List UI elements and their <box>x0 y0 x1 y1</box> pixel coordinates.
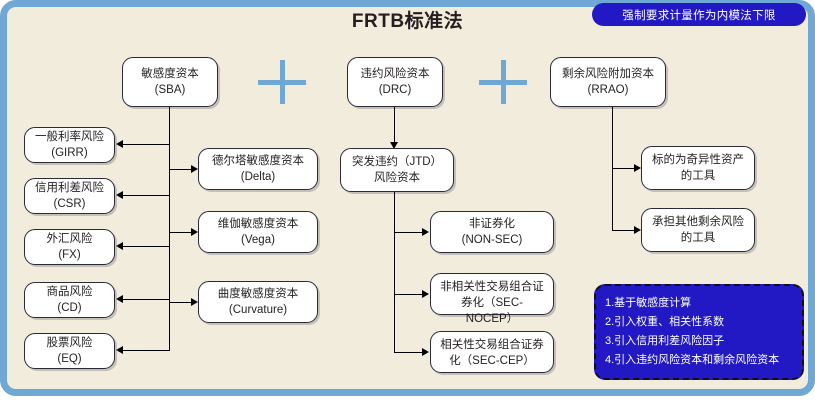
node-non-sec[interactable]: 非证券化 (NON-SEC) <box>430 211 554 253</box>
node-curvature[interactable]: 曲度敏感度资本 (Curvature) <box>198 281 318 323</box>
connector-sba-csr <box>123 195 170 196</box>
node-jtd-line1: 突发违约（JTD） <box>352 154 442 170</box>
arrow-sba-fx <box>116 242 123 250</box>
connector-rrao-other <box>613 230 635 231</box>
node-sec-cep-line1: 相关性交易组合证券 <box>438 337 546 353</box>
node-rrao-line2: (RRAO) <box>588 82 629 98</box>
node-eq-line1: 股票风险 <box>47 335 93 351</box>
connector-sba-cd <box>123 299 170 300</box>
node-vega-line1: 维伽敏感度资本 <box>218 216 299 232</box>
node-drc-line1: 违约风险资本 <box>361 66 430 82</box>
arrow-jtd-secnocep <box>422 290 429 298</box>
node-other-residual[interactable]: 承担其他剩余风险 的工具 <box>641 208 755 252</box>
node-fx[interactable]: 外汇风险 (FX) <box>24 229 115 265</box>
node-cd-line2: (CD) <box>57 300 81 316</box>
node-sba-line1: 敏感度资本 <box>141 66 199 82</box>
connector-sba-vega <box>170 232 192 233</box>
node-jtd-line2: 风险资本 <box>374 170 420 186</box>
node-delta[interactable]: 德尔塔敏感度资本 (Delta) <box>198 148 318 190</box>
node-jtd[interactable]: 突发违约（JTD） 风险资本 <box>340 148 454 192</box>
node-delta-line1: 德尔塔敏感度资本 <box>212 153 304 169</box>
note-line-2: 2.引入权重、相关性系数 <box>605 313 802 332</box>
node-cd[interactable]: 商品风险 (CD) <box>24 282 115 318</box>
node-rrao-line1: 剩余风险附加资本 <box>562 66 654 82</box>
node-sec-cep[interactable]: 相关性交易组合证券 化（SEC-CEP） <box>430 331 554 373</box>
arrow-sba-csr <box>116 191 123 199</box>
node-other-residual-line1: 承担其他剩余风险 <box>652 214 744 230</box>
plus-operator-1-icon <box>258 60 306 104</box>
arrow-sba-cd <box>116 295 123 303</box>
connector-sba-delta <box>170 169 192 170</box>
connector-jtd-nonsec <box>395 232 423 233</box>
connector-sba-eq <box>123 350 170 351</box>
connector-sba-girr <box>123 144 170 145</box>
connector-rrao-exotic <box>613 168 635 169</box>
arrow-sba-vega <box>191 228 198 236</box>
connector-jtd-secnocep <box>395 294 423 295</box>
node-cd-line1: 商品风险 <box>47 284 93 300</box>
node-exotic-underlying[interactable]: 标的为奇异性资产 的工具 <box>641 146 755 190</box>
node-exotic-underlying-line2: 的工具 <box>681 168 716 184</box>
connector-sba-curvature <box>170 302 192 303</box>
arrow-sba-curvature <box>191 298 198 306</box>
node-csr[interactable]: 信用利差风险 (CSR) <box>24 178 115 214</box>
node-rrao[interactable]: 剩余风险附加资本 (RRAO) <box>550 57 666 107</box>
connector-drc-jtd <box>394 107 395 143</box>
node-other-residual-line2: 的工具 <box>681 230 716 246</box>
note-line-1: 1.基于敏感度计算 <box>605 294 802 313</box>
node-delta-line2: (Delta) <box>241 169 276 185</box>
status-badge: 强制要求计量作为内模法下限 <box>592 3 806 26</box>
note-line-4: 4.引入违约风险资本和剩余风险资本 <box>605 351 802 370</box>
node-drc[interactable]: 违约风险资本 (DRC) <box>347 57 443 107</box>
node-non-sec-line2: (NON-SEC) <box>462 232 523 248</box>
node-sec-nocep-line1: 非相关性交易组合证 <box>438 279 546 295</box>
node-girr-line2: (GIRR) <box>51 145 87 161</box>
node-drc-line2: (DRC) <box>379 82 412 98</box>
connector-sba-fx <box>123 246 170 247</box>
node-sba-line2: (SBA) <box>155 82 186 98</box>
arrow-rrao-exotic <box>634 164 641 172</box>
node-curvature-line2: (Curvature) <box>229 302 287 318</box>
node-girr-line1: 一般利率风险 <box>35 129 104 145</box>
node-csr-line1: 信用利差风险 <box>35 180 104 196</box>
node-girr[interactable]: 一般利率风险 (GIRR) <box>24 127 115 163</box>
node-sec-nocep[interactable]: 非相关性交易组合证 券化（SEC-NOCEP） <box>430 273 554 315</box>
summary-note: 1.基于敏感度计算 2.引入权重、相关性系数 3.引入信用利差风险因子 4.引入… <box>594 284 804 380</box>
arrow-sba-delta <box>191 165 198 173</box>
node-vega[interactable]: 维伽敏感度资本 (Vega) <box>198 211 318 253</box>
node-curvature-line1: 曲度敏感度资本 <box>218 286 299 302</box>
arrow-sba-girr <box>116 140 123 148</box>
node-sec-nocep-line2: 券化（SEC-NOCEP） <box>438 295 546 327</box>
arrow-jtd-seccep <box>422 348 429 356</box>
connector-jtd-seccep <box>395 352 423 353</box>
note-line-3: 3.引入信用利差风险因子 <box>605 332 802 351</box>
node-sba[interactable]: 敏感度资本 (SBA) <box>122 57 218 107</box>
node-sec-cep-line2: 化（SEC-CEP） <box>438 353 546 369</box>
node-eq-line2: (EQ) <box>57 351 81 367</box>
plus-operator-2-icon <box>479 60 527 104</box>
diagram-canvas: FRTB标准法 强制要求计量作为内模法下限 敏感度资本 (SBA) 违约风险资本… <box>0 0 815 402</box>
arrow-rrao-other <box>634 226 641 234</box>
node-fx-line2: (FX) <box>58 247 80 263</box>
arrow-jtd-nonsec <box>422 228 429 236</box>
node-non-sec-line1: 非证券化 <box>469 216 515 232</box>
node-fx-line1: 外汇风险 <box>47 231 93 247</box>
node-vega-line2: (Vega) <box>241 232 275 248</box>
connector-jtd-trunk <box>394 192 395 353</box>
arrow-sba-eq <box>116 346 123 354</box>
node-eq[interactable]: 股票风险 (EQ) <box>24 333 115 369</box>
node-exotic-underlying-line1: 标的为奇异性资产 <box>652 152 744 168</box>
node-csr-line2: (CSR) <box>54 196 86 212</box>
